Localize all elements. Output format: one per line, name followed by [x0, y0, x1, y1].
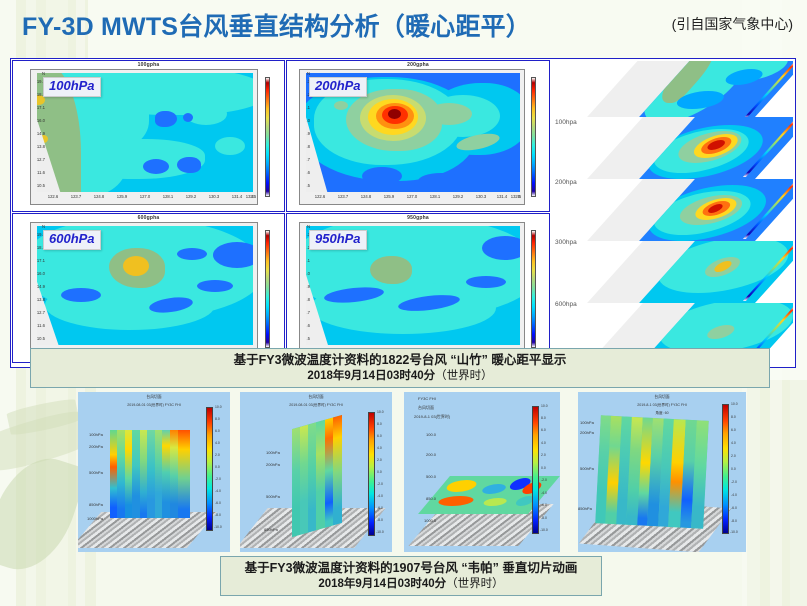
vpanel-pressure-label: 100hPa	[580, 420, 594, 425]
caption-bottom-timezone: （世界时）	[446, 578, 504, 590]
vpanel-cbar-tick: -6.0	[215, 501, 221, 505]
vpanel-pressure-label: 100.0	[426, 432, 436, 437]
level-badge-950hpa: 950hPa	[309, 230, 367, 250]
vpanel-pressure-label: 850hPa	[89, 502, 103, 507]
vpanel-cbar-tick: 4.0	[377, 446, 382, 450]
vpanel-cbar-tick: 6.0	[377, 434, 382, 438]
vpanel-pressure-label: 500hPa	[89, 470, 103, 475]
vpanel-pressure-label: 100hPa	[89, 432, 103, 437]
vpanel-cbar-tick: 10.0	[215, 405, 222, 409]
stack-label-600hpa: 600hpa	[555, 301, 577, 308]
vpanel-cbar-tick: 0.0	[541, 466, 546, 470]
vpanel-cbar-tick: -8.0	[731, 519, 737, 523]
vpanel-cbar-tick: 0.0	[377, 470, 382, 474]
vpanel-pressure-label: 200.0	[426, 452, 436, 457]
caption-bottom-date: 2018年9月14日03时40分	[318, 578, 446, 590]
level-badge-100hpa: 100hPa	[43, 77, 101, 97]
vpanel-cbar-tick: 10.0	[541, 404, 548, 408]
map-panel-600hpa[interactable]: 600gpha N 19.3 18.2 17.1 16.0 14.9 13.8 …	[12, 213, 285, 363]
vpanel-pressure-label: 500hPa	[580, 466, 594, 471]
vpanel-cbar-tick: 2.0	[541, 453, 546, 457]
vpanel-cbar-tick: -6.0	[541, 503, 547, 507]
vpanel-cbar-tick: -2.0	[541, 478, 547, 482]
vpanel-cbar-tick: -6.0	[377, 506, 383, 510]
colorbar	[265, 77, 270, 197]
level-badge-600hpa: 600hPa	[43, 230, 101, 250]
vpanel-colorbar	[206, 407, 213, 531]
vpanel-cbar-tick: 8.0	[731, 415, 736, 419]
caption-bottom: 基于FY3微波温度计资料的1907号台风 “韦帕” 垂直切片动画 2018年9月…	[220, 556, 602, 596]
vertical-slice-panel-2[interactable]: 台风切面 2019-08-01 03(世界时) FY3C FHI 100hPa …	[240, 392, 392, 552]
vpanel-cbar-tick: -4.0	[541, 491, 547, 495]
vpanel-cbar-tick: 6.0	[541, 428, 546, 432]
vpanel-title: 台风切面	[240, 395, 392, 400]
vpanel-title: 台风切面	[578, 395, 746, 400]
vpanel-cbar-tick: 0.0	[215, 465, 220, 469]
vpanel-pressure-label: 200hPa	[266, 462, 280, 467]
map-panel-200hpa[interactable]: 200gpha N .3	[286, 60, 550, 212]
vpanel-cbar-tick: 4.0	[541, 441, 546, 445]
vpanel-cbar-tick: -8.0	[215, 513, 221, 517]
vpanel-colorbar	[532, 406, 539, 534]
vpanel-cbar-tick: -10.0	[376, 530, 384, 534]
vpanel-subtitle: 台风切面	[418, 405, 434, 411]
map-panel-950hpa[interactable]: 950gpha N .3 .2 .1 .0 .9 .8 .7 .6 .5	[286, 213, 550, 363]
vpanel-cbar-tick: 8.0	[377, 422, 382, 426]
level-badge-200hpa: 200hPa	[309, 77, 367, 97]
vpanel-cbar-tick: -2.0	[215, 477, 221, 481]
top-figure-container: 100gpha N 19.3 18.2 17.1	[10, 58, 796, 368]
stack-slab-600hpa	[587, 241, 793, 303]
cross-section-slice	[110, 430, 190, 518]
vpanel-pressure-label: 100hPa	[266, 450, 280, 455]
vpanel-cbar-tick: 8.0	[541, 416, 546, 420]
cross-section-slice	[292, 415, 342, 537]
panel-small-title: 600gpha	[13, 215, 284, 221]
caption-bottom-line2: 2018年9月14日03时40分（世界时）	[318, 577, 503, 593]
stack-label-300hpa: 300hpa	[555, 239, 577, 246]
vpanel-cbar-tick: 10.0	[731, 402, 738, 406]
vpanel-cbar-tick: 6.0	[215, 429, 220, 433]
cross-section-slice	[595, 415, 709, 529]
vpanel-cbar-tick: -4.0	[377, 494, 383, 498]
vpanel-cbar-tick: -4.0	[731, 493, 737, 497]
panel-small-title: 200gpha	[287, 62, 549, 68]
caption-bottom-line1: 基于FY3微波温度计资料的1907号台风 “韦帕” 垂直切片动画	[245, 560, 578, 577]
caption-top-date: 2018年9月14日03时40分	[307, 370, 435, 382]
vpanel-title: FY3C FHI	[418, 396, 436, 401]
vpanel-pressure-label: 850hPa	[264, 527, 278, 532]
colorbar	[531, 77, 536, 197]
slide-header: FY-3D MWTS台风垂直结构分析（暖心距平） (引自国家气象中心)	[0, 0, 807, 54]
source-attribution: (引自国家气象中心)	[672, 14, 793, 34]
vpanel-pressure-label: 200hPa	[580, 430, 594, 435]
stacked-levels-3d[interactable]: 100hpa 200hpa 300hpa 600hpa	[553, 61, 793, 365]
vpanel-cbar-tick: -10.0	[214, 525, 222, 529]
vpanel-colorbar	[368, 412, 375, 536]
vpanel-cbar-tick: -2.0	[731, 480, 737, 484]
vpanel-cbar-tick: 2.0	[731, 454, 736, 458]
vertical-slice-panel-4[interactable]: 台风切面 2019-8-1 03(世界时) FY3C FHI 角度: 60 10…	[578, 392, 746, 552]
vpanel-pressure-label: 500hPa	[266, 494, 280, 499]
page-title: FY-3D MWTS台风垂直结构分析（暖心距平）	[22, 7, 531, 43]
stack-slab-200hpa	[587, 117, 793, 179]
stack-slab-100hpa	[587, 61, 793, 117]
colorbar	[531, 230, 536, 348]
vpanel-cbar-tick: 2.0	[215, 453, 220, 457]
vpanel-cbar-tick: -8.0	[541, 516, 547, 520]
vpanel-pressure-label: 1000.0	[424, 518, 436, 523]
panel-small-title: 950gpha	[287, 215, 549, 221]
caption-top-line1: 基于FY3微波温度计资料的1822号台风 “山竹” 暖心距平显示	[234, 352, 567, 369]
caption-top-timezone: （世界时）	[435, 370, 493, 382]
vpanel-cbar-tick: -10.0	[540, 528, 548, 532]
vpanel-colorbar	[722, 404, 729, 534]
caption-top: 基于FY3微波温度计资料的1822号台风 “山竹” 暖心距平显示 2018年9月…	[30, 348, 770, 388]
vpanel-cbar-tick: -6.0	[731, 506, 737, 510]
vpanel-subtitle: 2019-08-01 03(世界时) FY3C FHI	[240, 403, 392, 408]
vpanel-title: 台风切面	[78, 395, 230, 400]
vpanel-cbar-tick: 8.0	[215, 417, 220, 421]
vpanel-cbar-tick: -4.0	[215, 489, 221, 493]
vpanel-cbar-tick: 2.0	[377, 458, 382, 462]
vertical-slice-panel-1[interactable]: 台风切面 2019-08-01 03(世界时) FY3C FHI 100hPa …	[78, 392, 230, 552]
stack-label-200hpa: 200hpa	[555, 179, 577, 186]
vpanel-cbar-tick: 10.0	[377, 410, 384, 414]
vpanel-cbar-tick: -10.0	[730, 530, 738, 534]
vpanel-cbar-tick: 4.0	[731, 441, 736, 445]
vpanel-cbar-tick: 6.0	[731, 428, 736, 432]
vpanel-cbar-tick: -8.0	[377, 518, 383, 522]
stack-slab-300hpa	[587, 179, 793, 241]
vpanel-pressure-label: 850.0	[426, 496, 436, 501]
panel-small-title: 100gpha	[13, 62, 284, 68]
vpanel-pressure-label: 500.0	[426, 474, 436, 479]
caption-top-line2: 2018年9月14日03时40分（世界时）	[307, 369, 492, 385]
vertical-slice-panel-3[interactable]: FY3C FHI 台风切面 2019-8-1 03(世界时) 100.0 200…	[404, 392, 560, 552]
vpanel-subtitle2: 2019-8-1 03(世界时)	[414, 414, 450, 420]
vpanel-cbar-tick: 4.0	[215, 441, 220, 445]
vpanel-pressure-label: 200hPa	[89, 444, 103, 449]
vpanel-cbar-tick: -2.0	[377, 482, 383, 486]
map-panel-100hpa[interactable]: 100gpha N 19.3 18.2 17.1	[12, 60, 285, 212]
vpanel-cbar-tick: 0.0	[731, 467, 736, 471]
vpanel-subtitle: 2019-8-1 03(世界时) FY3C FHI	[578, 403, 746, 408]
colorbar	[265, 230, 270, 348]
stack-label-100hpa: 100hpa	[555, 119, 577, 126]
vpanel-pressure-label: 1000hPa	[87, 516, 103, 521]
vpanel-pressure-label: 850hPa	[578, 506, 592, 511]
